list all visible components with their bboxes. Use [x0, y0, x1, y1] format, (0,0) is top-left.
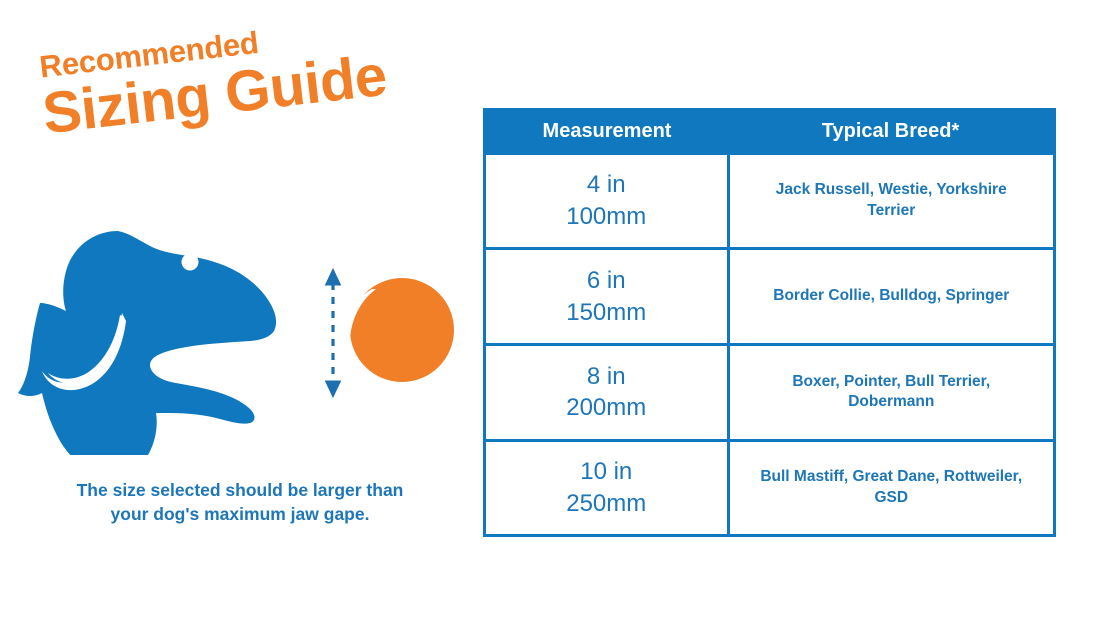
jaw-gape-illustration: [0, 225, 470, 455]
jaw-gape-caption: The size selected should be larger than …: [60, 478, 420, 526]
measurement-mm: 250mm: [486, 488, 727, 520]
breed-cell: Border Collie, Bulldog, Springer: [728, 249, 1053, 345]
table-row: 8 in 200mm Boxer, Pointer, Bull Terrier,…: [486, 345, 1053, 441]
sizing-table: Measurement Typical Breed* 4 in 100mm Ja…: [483, 108, 1056, 537]
measurement-cell: 10 in 250mm: [486, 440, 728, 534]
page-title: Recommended Sizing Guide: [36, 7, 444, 144]
measurement-cell: 8 in 200mm: [486, 345, 728, 441]
measurement-inches: 10 in: [486, 456, 727, 488]
table-header-row: Measurement Typical Breed*: [486, 111, 1053, 153]
dashed-double-arrow-icon: [326, 269, 341, 397]
dog-head-profile-icon: [18, 231, 276, 455]
measurement-inches: 4 in: [486, 169, 727, 201]
table-row: 10 in 250mm Bull Mastiff, Great Dane, Ro…: [486, 440, 1053, 534]
breed-cell: Bull Mastiff, Great Dane, Rottweiler, GS…: [728, 440, 1053, 534]
table-row: 4 in 100mm Jack Russell, Westie, Yorkshi…: [486, 153, 1053, 249]
header-typical-breed: Typical Breed*: [728, 111, 1053, 153]
orange-ball-icon: [340, 278, 454, 389]
breed-cell: Boxer, Pointer, Bull Terrier, Dobermann: [728, 345, 1053, 441]
measurement-mm: 150mm: [486, 297, 727, 329]
measurement-inches: 8 in: [486, 361, 727, 393]
breed-cell: Jack Russell, Westie, Yorkshire Terrier: [728, 153, 1053, 249]
measurement-inches: 6 in: [486, 265, 727, 297]
sizing-guide-page: Recommended Sizing Guide: [0, 0, 1100, 620]
measurement-mm: 100mm: [486, 201, 727, 233]
header-measurement: Measurement: [486, 111, 728, 153]
measurement-mm: 200mm: [486, 392, 727, 424]
measurement-cell: 6 in 150mm: [486, 249, 728, 345]
table-row: 6 in 150mm Border Collie, Bulldog, Sprin…: [486, 249, 1053, 345]
measurement-cell: 4 in 100mm: [486, 153, 728, 249]
dog-eye: [182, 254, 199, 271]
